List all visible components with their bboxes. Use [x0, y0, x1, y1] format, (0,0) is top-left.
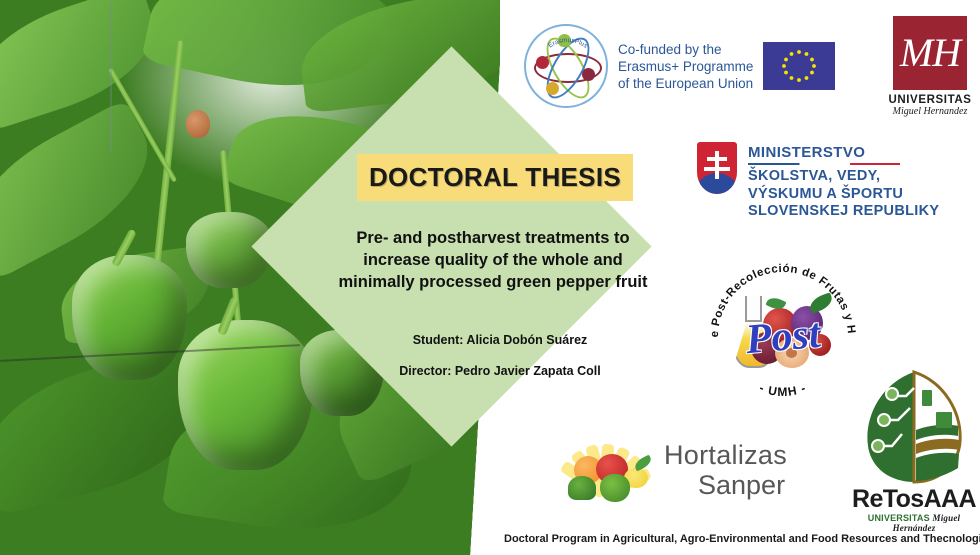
erasmus-arc-text-icon: ErasmusPlus — [526, 26, 606, 106]
ministry-line-2: VÝSKUMU A ŠPORTU — [748, 186, 939, 204]
student-line: Student: Alicia Dobón Suárez — [340, 333, 660, 347]
dried-flower — [186, 110, 210, 138]
umh-monogram-text: MH — [893, 16, 967, 90]
erasmus-atom-emblem-icon: ErasmusPlus — [524, 24, 608, 108]
retos-leaf-field-icon — [858, 368, 970, 486]
slovak-coat-of-arms-icon — [697, 142, 737, 194]
ministry-caption: MINISTERSTVO ŠKOLSTVA, VEDY, VÝSKUMU A Š… — [748, 142, 939, 221]
umh-universitas-label: UNIVERSITAS — [884, 94, 976, 106]
hortalizas-sanper-logo: Hortalizas Sanper — [548, 432, 787, 508]
thesis-title-slide: DOCTORAL THESIS Pre- and postharvest tre… — [0, 0, 980, 555]
eu-stars-icon — [763, 42, 835, 90]
thesis-credits: Student: Alicia Dobón Suárez Director: P… — [340, 333, 660, 395]
director-line: Director: Pedro Javier Zapata Coll — [340, 364, 660, 378]
umh-name-label: Miguel Hernandez — [884, 106, 976, 117]
thesis-subtitle: Pre- and postharvest treatments to incre… — [328, 228, 658, 294]
erasmus-line-3: of the European Union — [618, 75, 753, 92]
field-row — [916, 453, 959, 481]
doctoral-thesis-banner: DOCTORAL THESIS — [357, 154, 633, 201]
ministry-line-1: ŠKOLSTVA, VEDY, — [748, 168, 939, 186]
subtitle-line-3: minimally processed green pepper fruit — [328, 272, 658, 294]
ministry-heading: MINISTERSTVO — [748, 144, 939, 161]
erasmus-caption: Co-funded by the Erasmus+ Programme of t… — [618, 41, 753, 92]
post-fruit-composition: Post — [723, 294, 843, 380]
umh-logo: MH UNIVERSITAS Miguel Hernandez — [884, 16, 976, 117]
erasmus-line-1: Co-funded by the — [618, 41, 753, 58]
svg-text:- UMH -: - UMH - — [757, 381, 808, 399]
subtitle-line-1: Pre- and postharvest treatments to — [328, 228, 658, 250]
sanper-vegetables-icon — [548, 432, 658, 508]
european-union-flag-icon — [763, 42, 835, 90]
retos-universitas-label: UNIVERSITAS — [868, 513, 930, 523]
footer-program-line: Doctoral Program in Agricultural, Agro-E… — [504, 533, 980, 545]
retos-subtitle: UNIVERSITAS Miguel Hernández — [852, 513, 976, 533]
retos-emblem-svg — [858, 368, 970, 486]
grupo-post-recoleccion-logo: Grupo de Post-Recolección de Frutas y Ho… — [704, 258, 862, 416]
pixel-block — [922, 390, 932, 406]
broccoli-icon — [568, 476, 596, 500]
slovak-ministry-logo: MINISTERSTVO ŠKOLSTVA, VEDY, VÝSKUMU A Š… — [697, 142, 939, 221]
green-pepper-fruit — [178, 320, 313, 470]
retos-aaa-logo: ReTosAAA UNIVERSITAS Miguel Hernández — [852, 368, 976, 533]
double-cross-upper-bar — [707, 157, 727, 161]
svg-text:ErasmusPlus: ErasmusPlus — [547, 37, 589, 50]
pixel-block — [936, 412, 952, 428]
erasmus-plus-logo: ErasmusPlus Co-funded by the Erasmus+ Pr… — [524, 24, 835, 108]
ministry-tricolor-rule — [748, 163, 900, 165]
ministry-line-3: SLOVENSKEJ REPUBLIKY — [748, 203, 939, 221]
umh-monogram-icon: MH — [893, 16, 967, 90]
trellis-wire — [110, 2, 112, 152]
sanper-line-1: Hortalizas — [664, 442, 787, 469]
page-title: DOCTORAL THESIS — [369, 162, 621, 193]
sanper-line-2: Sanper — [664, 472, 787, 499]
green-pepper-fruit — [72, 255, 187, 380]
double-cross-lower-bar — [704, 167, 730, 171]
retos-wordmark: ReTosAAA — [852, 487, 976, 512]
erasmus-line-2: Erasmus+ Programme — [618, 58, 753, 75]
double-cross-vertical — [715, 151, 719, 179]
ministry-body: ŠKOLSTVA, VEDY, VÝSKUMU A ŠPORTU SLOVENS… — [748, 168, 939, 221]
subtitle-line-2: increase quality of the whole and — [328, 250, 658, 272]
sanper-wordmark: Hortalizas Sanper — [664, 442, 787, 499]
post-wordmark: Post — [744, 310, 823, 364]
green-pepper-icon — [600, 474, 630, 502]
